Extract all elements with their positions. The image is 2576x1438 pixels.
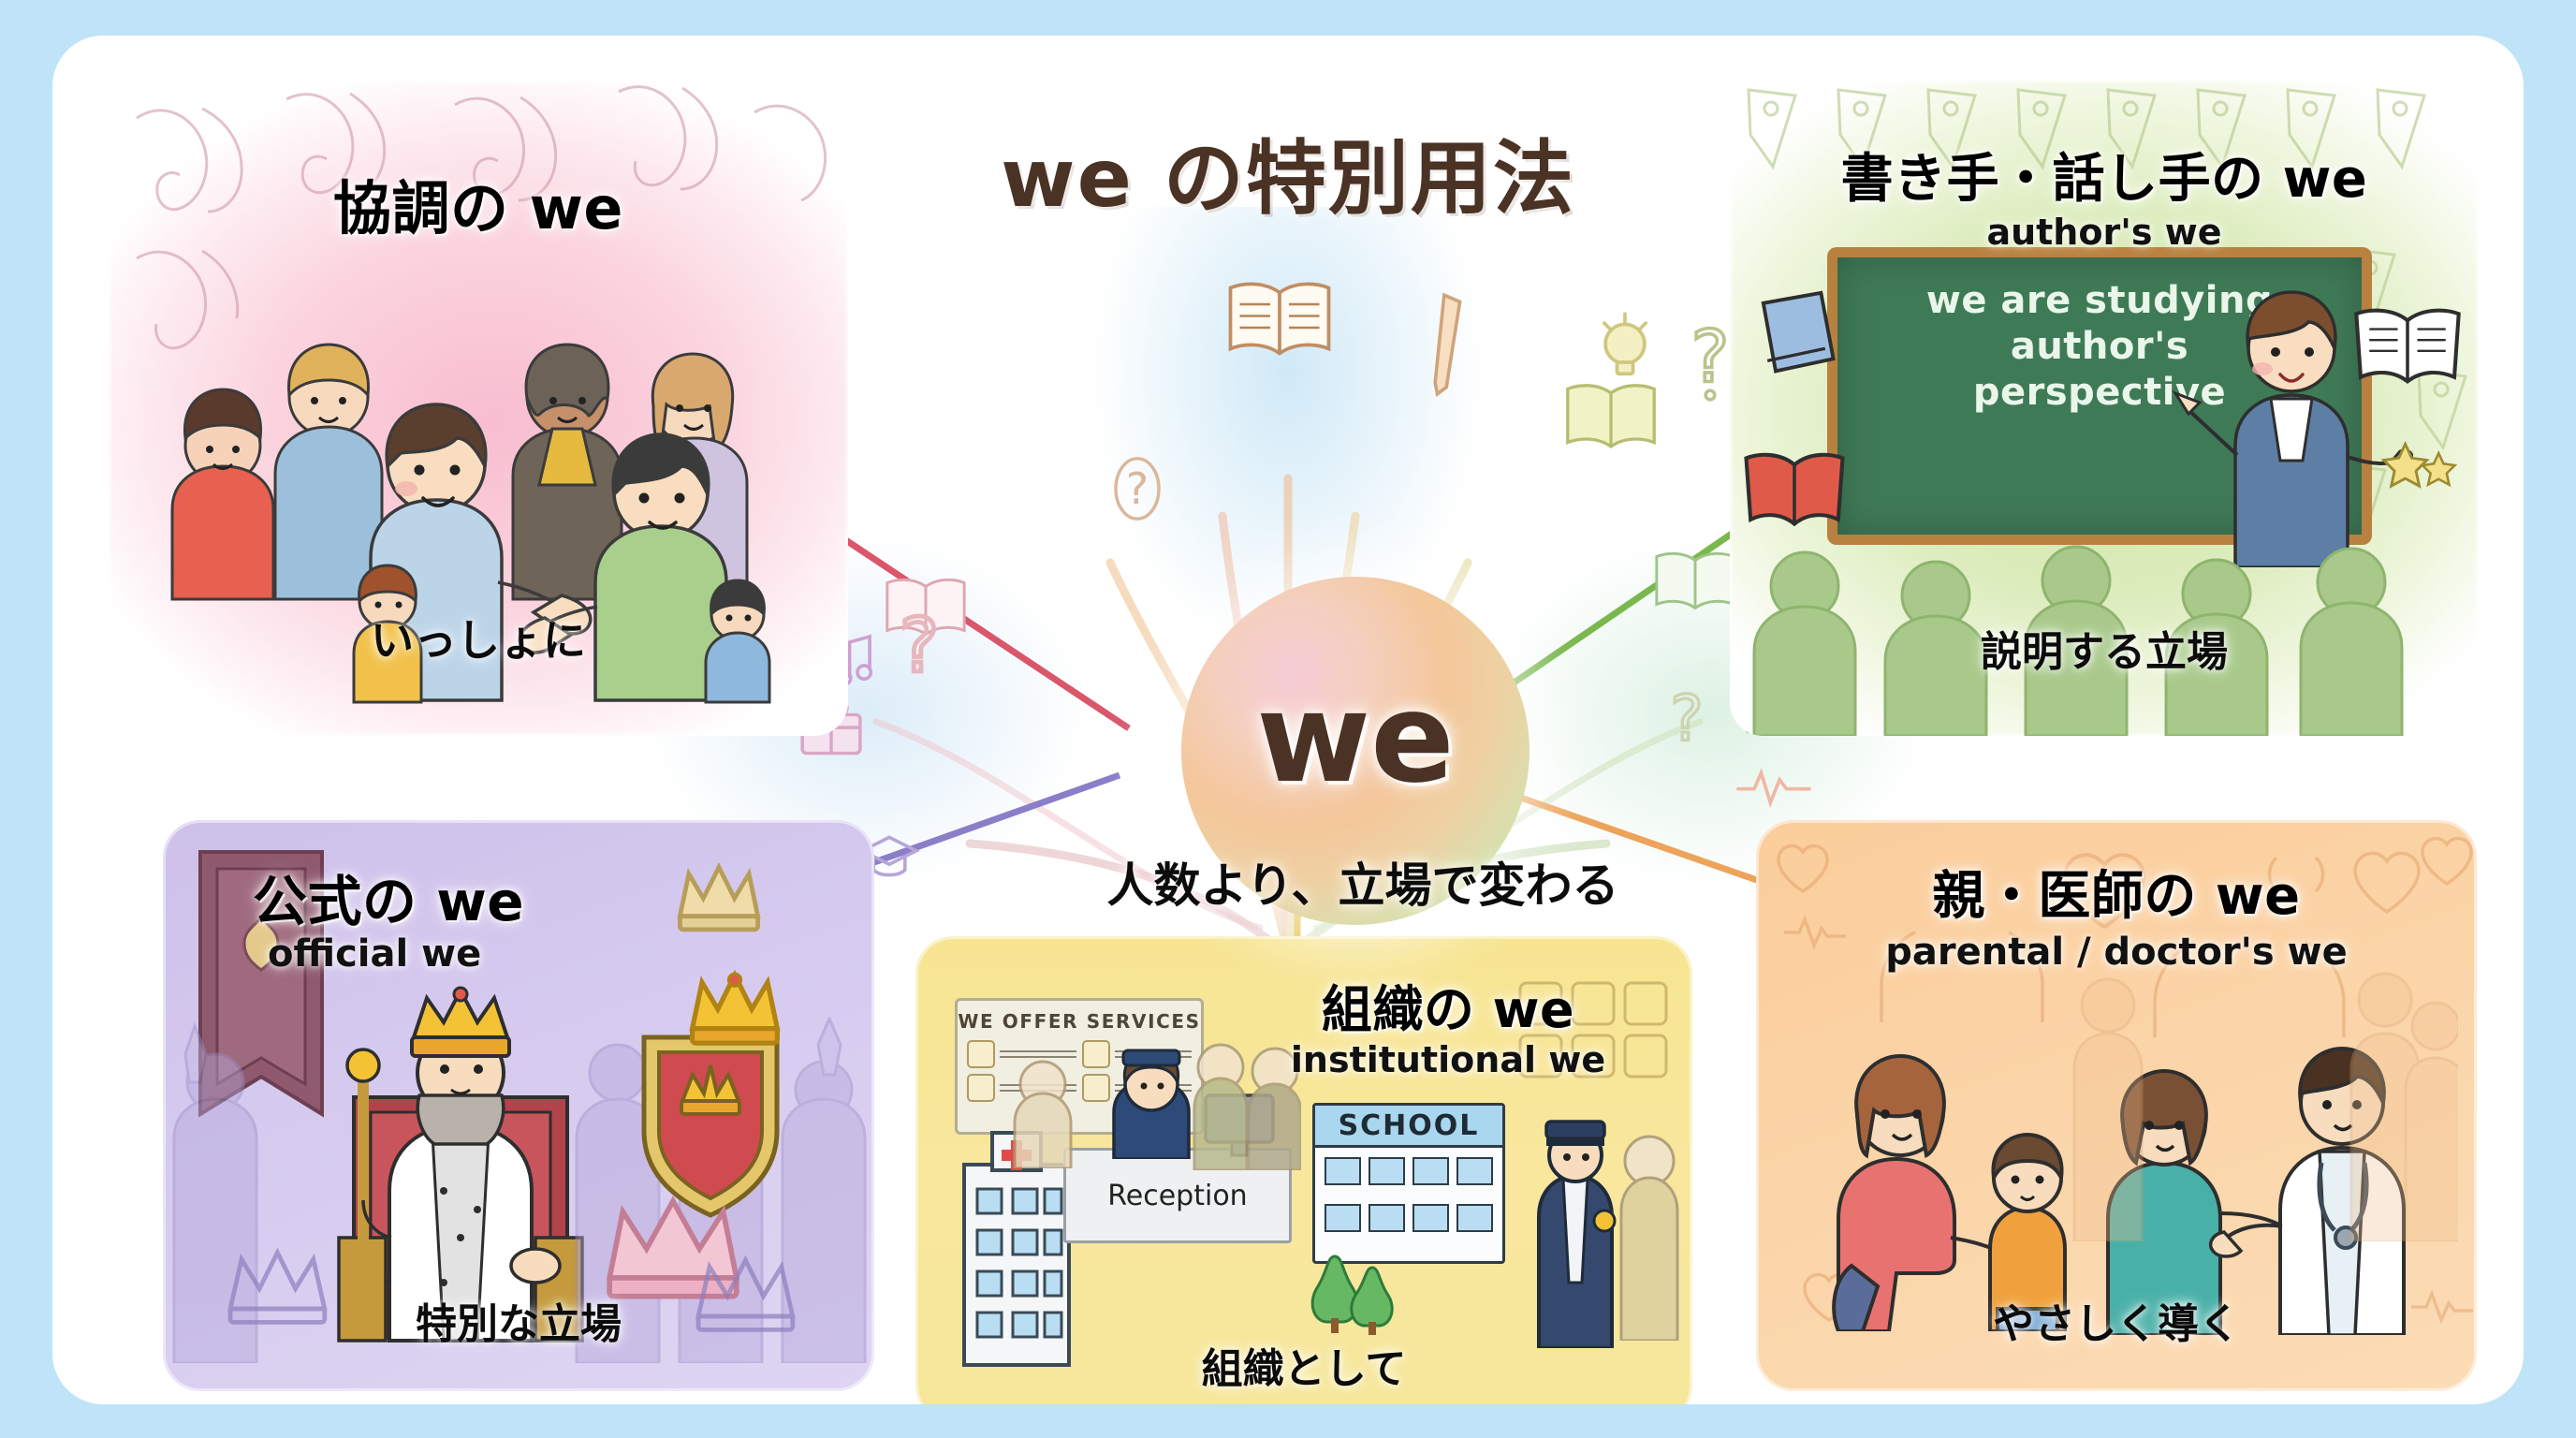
panel-parental[interactable]: 親・医師の we parental / doctor's we やさしく導く [1756,820,2477,1391]
doctor-and-patient-illustration [2084,998,2458,1335]
panel-harmony-caption: いっしょに [109,607,848,668]
pencil-icon [1428,288,1473,401]
center-word: we [1181,667,1529,811]
panel-harmony-title: 協調の we [109,161,848,245]
poster-lines [1115,1080,1192,1095]
panel-parental-subtitle: parental / doctor's we [1756,931,2477,974]
school-windows [1315,1195,1502,1241]
poster-cell [967,1074,1076,1102]
open-book-icon [1221,271,1339,365]
panel-official[interactable]: 公式の we official we 特別な立場 [163,820,874,1391]
panel-author-caption: 説明する立場 [1730,618,2479,678]
infographic-card: ? ? ? ? [52,36,2524,1404]
school-windows [1315,1148,1502,1195]
open-book-icon [1559,373,1662,459]
poster-cell [1082,1074,1192,1102]
heraldic-shield-icon [631,1022,790,1219]
svg-text:?: ? [1126,463,1149,514]
panel-harmony[interactable]: 協調の we いっしょに [109,81,848,736]
blackboard: we are studying author's perspective [1827,247,2372,545]
question-mark-icon: ? [891,601,947,698]
service-icon [967,1074,995,1102]
panel-institutional[interactable]: WE OFFER SERVICES [915,936,1692,1404]
lightbulb-icon [1589,307,1661,388]
center-caption: 人数より、立場で変わる [1007,848,1719,916]
poster-lines [1000,1080,1076,1095]
panel-parental-caption: やさしく導く [1756,1290,2477,1350]
background-family-silhouette [2065,961,2458,1241]
poster-grid [958,1033,1201,1109]
panel-parental-title: 親・医師の we [1756,854,2477,930]
office-worker-illustration [1610,1129,1692,1341]
panel-official-subtitle: official we [163,932,874,976]
open-book-icon [1649,543,1741,618]
blackboard-line-2: author's [1837,322,2362,368]
school-sign: SCHOOL [1315,1106,1502,1148]
infographic-canvas: ? ? ? ? [0,0,2576,1438]
svg-text:?: ? [1670,682,1703,755]
panel-official-caption: 特別な立場 [163,1290,874,1350]
services-poster: WE OFFER SERVICES [955,998,1204,1135]
service-icon [967,1040,995,1068]
parent-and-child-illustration [1807,1004,2078,1331]
panel-institutional-caption: 組織として [915,1335,1692,1395]
svg-text:?: ? [1691,316,1730,400]
school-building: SCHOOL [1312,1103,1505,1264]
poster-cell [967,1040,1076,1068]
poster-lines [1000,1047,1076,1062]
poster-cell [1082,1040,1192,1068]
panel-author-title: 書き手・話し手の we [1730,137,2479,213]
panel-author[interactable]: we are studying author's perspective [1730,81,2479,736]
svg-text:?: ? [900,602,939,689]
poster-title: WE OFFER SERVICES [958,1001,1201,1033]
panel-author-subtitle: author's we [1730,212,2479,253]
heartbeat-icon [1734,756,1814,814]
star-icon [2379,433,2466,494]
police-officer-illustration [1515,1105,1636,1348]
service-icon [1082,1074,1110,1102]
reception-sign: Reception [1063,1148,1292,1243]
panel-official-title: 公式の we [163,858,874,936]
question-mark-icon: ? [1661,682,1713,762]
open-book-icon [880,569,972,644]
panel-institutional-subtitle: institutional we [1228,1039,1668,1080]
crown-icon [593,1185,753,1307]
panel-institutional-title: 組織の we [1228,968,1668,1042]
blackboard-line-3: perspective [1837,368,2362,414]
service-icon [1082,1040,1110,1068]
question-mark-icon: ? [1110,446,1164,532]
blackboard-line-1: we are studying [1837,257,2362,322]
poster-lines [1115,1047,1192,1062]
